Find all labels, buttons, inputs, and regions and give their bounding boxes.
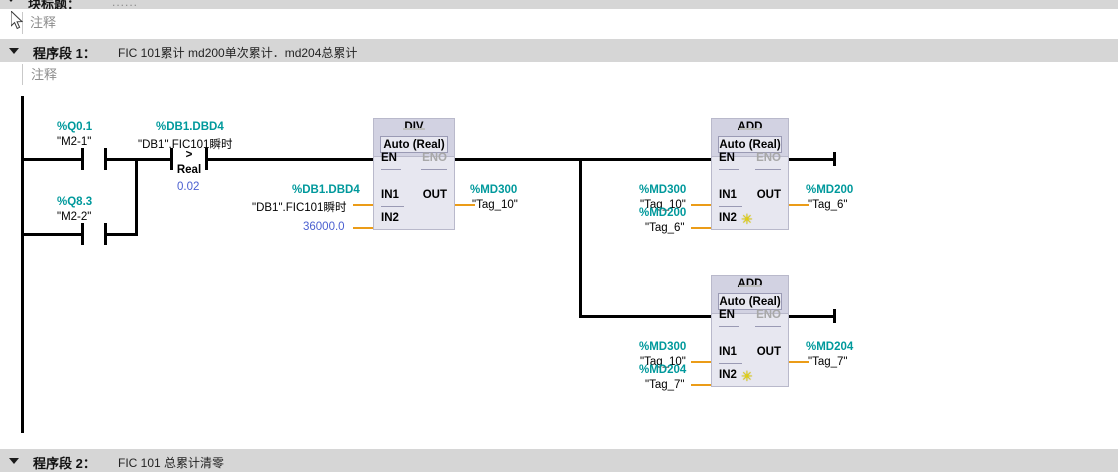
add-block-2[interactable]: ADD Auto (Real) EN ENO IN1 OUT IN2 ✳: [711, 275, 789, 387]
add2-out-symbol: "Tag_7": [808, 356, 848, 368]
div-block-en-eno-link: [403, 128, 425, 130]
add-block-2-eno-underline: [755, 326, 781, 327]
add1-in1-wire: [691, 204, 711, 206]
network-2-header[interactable]: 程序段 2： FIC 101 总累计清零: [0, 449, 1118, 472]
add-block-1-mode[interactable]: Auto (Real): [718, 136, 782, 153]
add-block-2-output-terminal: [833, 309, 836, 323]
add-block-1-out-label: OUT: [757, 189, 781, 201]
rung-wire-branch-to-add1: [579, 158, 711, 161]
contact-q83-address: %Q8.3: [57, 196, 92, 208]
network-1-title: FIC 101累计 md200单次累计．md204总累计: [118, 44, 357, 61]
div-block-eno-underline: [421, 169, 447, 170]
add1-out-wire: [789, 204, 809, 206]
add-block-2-in2-label: IN2: [719, 369, 737, 381]
rung-wire-lower-right: [107, 233, 138, 236]
network-1-comment-input[interactable]: 注释: [22, 64, 57, 85]
div-in2-wire: [353, 227, 373, 229]
div-block-eno-label: ENO: [422, 152, 447, 164]
network-1-label: 程序段 1：: [33, 43, 96, 62]
add1-out-address: %MD200: [806, 184, 853, 196]
comparator-operator: >: [170, 149, 208, 161]
div-block-out-label: OUT: [423, 189, 447, 201]
block-title-dots: ......: [112, 0, 138, 9]
rung-wire-to-comparator: [135, 158, 170, 161]
add-block-1-expand-star-icon[interactable]: ✳: [741, 212, 753, 226]
div-out-symbol: "Tag_10": [472, 199, 518, 211]
div-in1-wire: [353, 204, 373, 206]
add1-in1-address: %MD300: [639, 184, 686, 196]
block-comment-row: 注释: [0, 9, 1118, 37]
add-block-1-eno-underline: [755, 169, 781, 170]
add-block-2-en-eno-link: [739, 285, 761, 287]
div-block-in1-label: IN1: [381, 189, 399, 201]
network-1-comment-row: 注释: [0, 62, 1118, 88]
comparator-constant: 0.02: [177, 181, 199, 193]
add-block-2-mode[interactable]: Auto (Real): [718, 293, 782, 310]
network-1-header[interactable]: 程序段 1： FIC 101累计 md200单次累计．md204总累计: [0, 39, 1118, 62]
div-in2-constant: 36000.0: [303, 221, 345, 233]
add2-in2-symbol: "Tag_7": [645, 379, 685, 391]
div-block-in2-label: IN2: [381, 212, 399, 224]
network-2-collapse-arrow-icon[interactable]: [9, 458, 19, 464]
add-block-1-output-terminal: [833, 152, 836, 166]
rung-wire-branch-to-add2: [579, 315, 711, 318]
add2-out-address: %MD204: [806, 341, 853, 353]
contact-q01-address: %Q0.1: [57, 121, 92, 133]
add-block-2-output-rung: [789, 315, 835, 318]
div-block-mode[interactable]: Auto (Real): [380, 136, 448, 153]
block-collapse-arrow-icon[interactable]: [6, 0, 16, 2]
add2-in1-wire: [691, 361, 711, 363]
ladder-canvas: %Q0.1 "M2-1" %Q8.3 "M2-2" %DB1.DBD4 "DB1…: [0, 88, 1118, 445]
add-block-2-in1-label: IN1: [719, 346, 737, 358]
add-block-2-out-label: OUT: [757, 346, 781, 358]
add-block-2-en-underline: [719, 326, 739, 327]
div-in1-address: %DB1.DBD4: [292, 184, 360, 196]
add-block-2-in1-underline: [719, 363, 742, 364]
div-in1-symbol: "DB1".FIC101瞬时: [252, 199, 346, 215]
block-title-bar: 块标题： ......: [0, 0, 1118, 9]
add2-in1-address: %MD300: [639, 341, 686, 353]
add1-in2-address: %MD200: [639, 207, 686, 219]
comparator-address: %DB1.DBD4: [156, 121, 224, 133]
div-block[interactable]: DIV Auto (Real) EN ENO IN1 OUT IN2: [373, 118, 455, 230]
rung-wire-upper-right: [107, 158, 138, 161]
add-block-1-en-underline: [719, 169, 739, 170]
div-block-in1-underline: [381, 206, 404, 207]
block-comment-input[interactable]: 注释: [22, 12, 56, 34]
add-block-1-en-label: EN: [719, 152, 735, 164]
add-block-2-eno-label: ENO: [756, 309, 781, 321]
contact-q83-bar-left: [81, 223, 84, 245]
contact-q01-bar-left: [81, 148, 84, 170]
add1-in2-symbol: "Tag_6": [645, 222, 685, 234]
add2-in2-wire: [691, 384, 711, 386]
or-branch-joiner: [135, 158, 138, 236]
contact-q83-symbol: "M2-2": [57, 211, 91, 223]
add-block-1[interactable]: ADD Auto (Real) EN ENO IN1 OUT IN2 ✳: [711, 118, 789, 230]
div-block-en-underline: [381, 169, 401, 170]
block-title-label: 块标题：: [28, 0, 80, 9]
add1-out-symbol: "Tag_6": [808, 199, 848, 211]
contact-q01-symbol: "M2-1": [57, 136, 91, 148]
comparator-datatype: Real: [170, 164, 208, 176]
network-1-collapse-arrow-icon[interactable]: [9, 48, 19, 54]
power-rail: [21, 96, 24, 433]
add-block-1-en-eno-link: [739, 128, 761, 130]
network-2-label: 程序段 2：: [33, 453, 96, 472]
add-block-2-en-label: EN: [719, 309, 735, 321]
add2-out-wire: [789, 361, 809, 363]
add-block-2-expand-star-icon[interactable]: ✳: [741, 369, 753, 383]
add1-in2-wire: [691, 227, 711, 229]
add-block-1-in2-label: IN2: [719, 212, 737, 224]
div-block-en-label: EN: [381, 152, 397, 164]
rung-wire-div-to-branch: [455, 158, 582, 161]
add-block-1-output-rung: [789, 158, 835, 161]
div-out-address: %MD300: [470, 184, 517, 196]
add-block-1-in1-underline: [719, 206, 742, 207]
add-branch-vertical: [579, 158, 582, 318]
rung-wire-upper-left: [21, 158, 81, 161]
add2-in2-address: %MD204: [639, 364, 686, 376]
rung-wire-lower-left: [21, 233, 81, 236]
network-2-title: FIC 101 总累计清零: [118, 454, 224, 471]
add-block-1-in1-label: IN1: [719, 189, 737, 201]
add-block-1-eno-label: ENO: [756, 152, 781, 164]
rung-wire-comparator-to-div: [208, 158, 373, 161]
